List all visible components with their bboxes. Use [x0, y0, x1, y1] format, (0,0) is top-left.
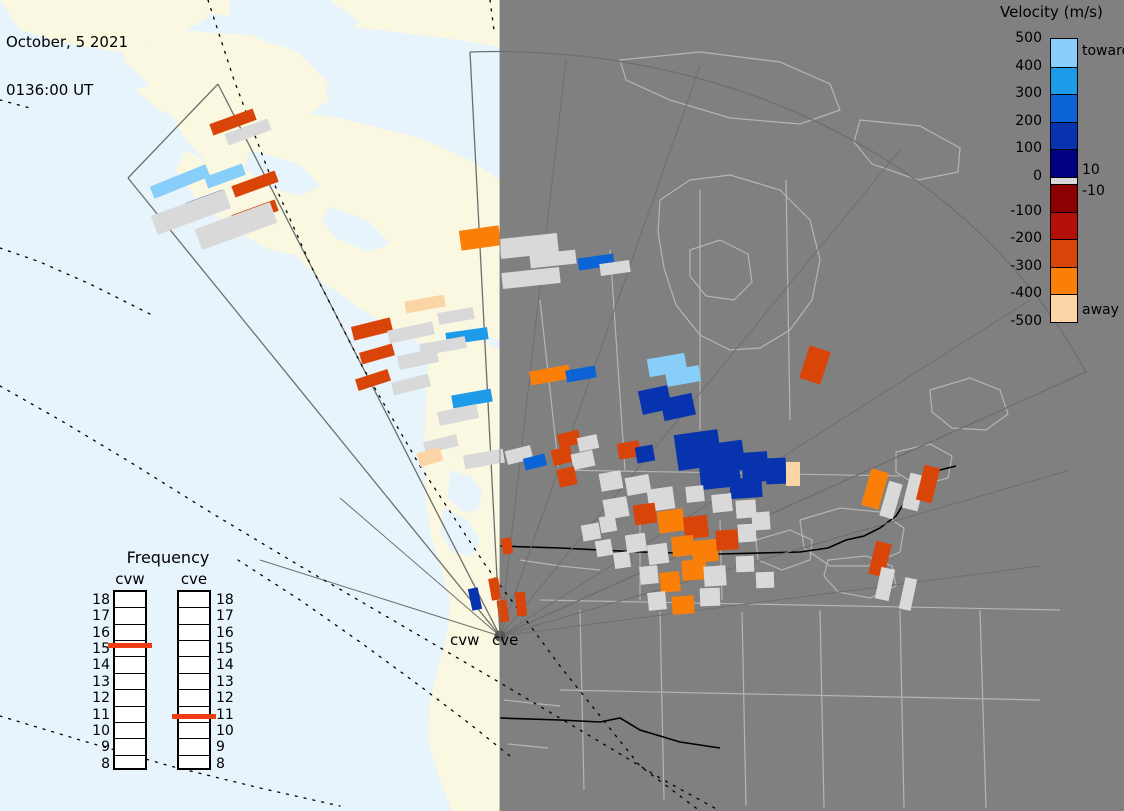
timestamp-date: October, 5 2021 — [6, 34, 128, 50]
colorbar-band-10 — [1051, 294, 1077, 322]
frequency-scale-label: 15 — [88, 642, 110, 656]
colorbar-tick-100: 100 — [992, 141, 1042, 155]
velocity-cell — [681, 559, 706, 581]
frequency-bar-cvw — [113, 590, 147, 770]
frequency-panel: Frequency cvw cve 18171615141312111098 1… — [88, 548, 248, 788]
frequency-bar-cve — [177, 590, 211, 770]
velocity-cell — [635, 445, 656, 464]
colorbar-band-6 — [1051, 184, 1077, 212]
velocity-cell — [751, 511, 770, 530]
frequency-scale-label: 12 — [216, 691, 238, 705]
colorbar-tick-500: 500 — [992, 31, 1042, 45]
frequency-scale-label: 11 — [216, 708, 238, 722]
velocity-cell — [633, 503, 658, 526]
frequency-segment — [115, 592, 145, 608]
colorbar-tick-400: 400 — [992, 59, 1042, 73]
frequency-scale-label: 10 — [216, 724, 238, 738]
frequency-segment — [179, 592, 209, 608]
frequency-scale-label: 14 — [88, 658, 110, 672]
frequency-scale-label: 14 — [216, 658, 238, 672]
frequency-scale-label: 13 — [216, 675, 238, 689]
frequency-segment — [115, 608, 145, 624]
colorbar-band-1 — [1051, 67, 1077, 95]
colorbar-ticks: 5004003002001000-100-200-300-400-500 — [992, 0, 1042, 340]
frequency-scale-label: 8 — [216, 757, 238, 771]
velocity-cell — [786, 462, 800, 486]
velocity-cell — [647, 591, 667, 611]
velocity-cell — [715, 529, 738, 550]
frequency-scale-label: 16 — [88, 626, 110, 640]
colorbar-band-4 — [1051, 149, 1077, 177]
frequency-marker-cvw — [108, 643, 152, 648]
frequency-scale-label: 13 — [88, 675, 110, 689]
velocity-cell — [556, 466, 577, 487]
frequency-segment — [179, 657, 209, 673]
frequency-segment — [115, 723, 145, 739]
velocity-cell — [711, 493, 733, 513]
colorbar-tick--400: -400 — [992, 286, 1042, 300]
velocity-cell — [729, 477, 762, 499]
frequency-segment — [115, 625, 145, 641]
colorbar-tick-0: 0 — [992, 169, 1042, 183]
frequency-scale-label: 17 — [216, 609, 238, 623]
frequency-scale-label: 18 — [88, 593, 110, 607]
frequency-segment — [179, 608, 209, 624]
radar-map-view: October, 5 2021 0136:00 UT Velocity (m/s… — [0, 0, 1124, 811]
frequency-segment — [115, 739, 145, 755]
colorbar-positive-threshold-label: 10 — [1082, 163, 1100, 177]
velocity-cell — [736, 556, 755, 573]
velocity-cell — [581, 523, 602, 542]
frequency-segment — [179, 756, 209, 772]
frequency-segment — [179, 739, 209, 755]
colorbar-gradient — [1050, 38, 1078, 323]
frequency-segment — [179, 723, 209, 739]
colorbar-band-9 — [1051, 267, 1077, 295]
timestamp: October, 5 2021 0136:00 UT — [6, 2, 128, 130]
colorbar-tick--500: -500 — [992, 314, 1042, 328]
velocity-cell — [613, 551, 631, 569]
colorbar-away-label: away — [1082, 303, 1119, 317]
velocity-cell — [647, 543, 670, 566]
frequency-scale-label: 12 — [88, 691, 110, 705]
frequency-scale-label: 16 — [216, 626, 238, 640]
velocity-cell — [756, 572, 775, 589]
frequency-segment — [115, 690, 145, 706]
frequency-scale-label: 18 — [216, 593, 238, 607]
frequency-segment — [115, 707, 145, 723]
velocity-cell — [625, 533, 647, 554]
frequency-title: Frequency — [88, 548, 248, 567]
frequency-scale-label: 9 — [216, 740, 238, 754]
colorbar-tick-200: 200 — [992, 114, 1042, 128]
colorbar-negative-threshold-label: -10 — [1082, 184, 1105, 198]
colorbar-tick--200: -200 — [992, 231, 1042, 245]
velocity-cell — [657, 508, 686, 533]
velocity-cell — [671, 595, 694, 614]
colorbar-toward-label: toward — [1082, 44, 1124, 58]
frequency-scale-label: 17 — [88, 609, 110, 623]
velocity-colorbar: Velocity (m/s) 5004003002001000-100-200-… — [1000, 0, 1124, 340]
frequency-scale-label: 8 — [88, 757, 110, 771]
site-label-cve: cve — [492, 631, 518, 649]
colorbar-ground-scatter-band — [1051, 177, 1077, 184]
velocity-cell — [659, 571, 681, 593]
frequency-marker-cve — [172, 714, 216, 719]
velocity-cell — [700, 588, 721, 607]
frequency-segment — [179, 641, 209, 657]
velocity-cell — [595, 539, 614, 558]
velocity-cell — [639, 565, 659, 585]
colorbar-tick-300: 300 — [992, 86, 1042, 100]
velocity-cell — [766, 458, 787, 485]
frequency-column-label-cve: cve — [174, 570, 214, 588]
frequency-segment — [179, 690, 209, 706]
frequency-scale-label: 9 — [88, 740, 110, 754]
frequency-segment — [115, 657, 145, 673]
frequency-scale-label: 15 — [216, 642, 238, 656]
frequency-segment — [179, 625, 209, 641]
site-label-cvw: cvw — [450, 631, 479, 649]
colorbar-band-3 — [1051, 122, 1077, 150]
frequency-segment — [115, 674, 145, 690]
velocity-cell — [599, 470, 624, 492]
frequency-column-label-cvw: cvw — [110, 570, 150, 588]
frequency-segment — [115, 756, 145, 772]
velocity-cell — [599, 515, 618, 534]
colorbar-band-2 — [1051, 94, 1077, 122]
velocity-cell — [683, 515, 709, 539]
timestamp-time: 0136:00 UT — [6, 82, 128, 98]
colorbar-band-0 — [1051, 39, 1077, 67]
frequency-segment — [179, 674, 209, 690]
velocity-cell — [671, 535, 695, 557]
colorbar-tick--300: -300 — [992, 259, 1042, 273]
velocity-cell — [685, 485, 705, 503]
colorbar-band-8 — [1051, 239, 1077, 267]
colorbar-tick--100: -100 — [992, 204, 1042, 218]
frequency-scale-label: 11 — [88, 708, 110, 722]
colorbar-band-7 — [1051, 212, 1077, 240]
frequency-scale-label: 10 — [88, 724, 110, 738]
velocity-cell — [703, 565, 726, 586]
